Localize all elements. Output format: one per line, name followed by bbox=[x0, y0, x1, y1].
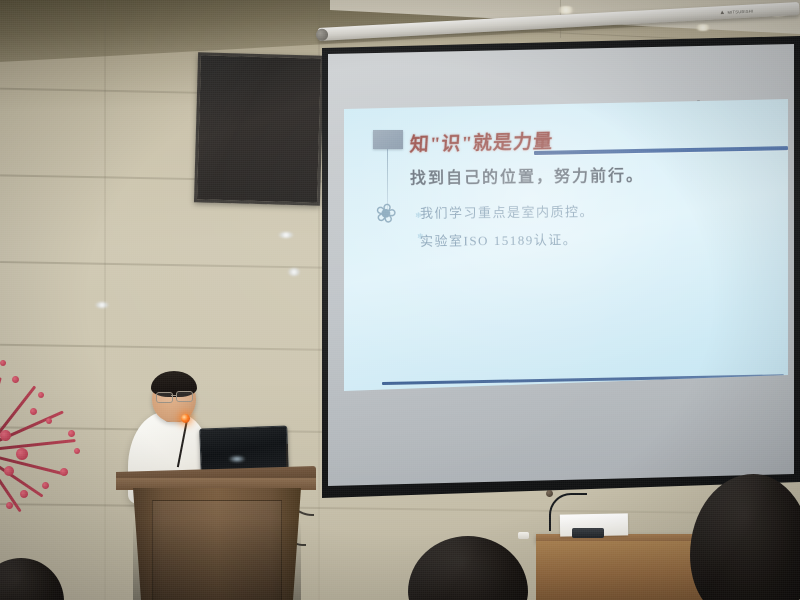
roller-end-cap bbox=[316, 28, 329, 41]
blossom-bud bbox=[0, 430, 11, 441]
microphone-led-icon bbox=[181, 414, 190, 423]
decorative-branches bbox=[0, 330, 106, 570]
presenter-glasses bbox=[176, 391, 193, 402]
podium-shading bbox=[133, 520, 301, 600]
blossom-bud bbox=[12, 376, 19, 383]
wall-reflection bbox=[288, 268, 300, 276]
slide-title-rule bbox=[534, 146, 788, 155]
table-microphone-head-icon bbox=[546, 490, 553, 497]
slide-bullet-1: 我们学习重点是室内质控。 bbox=[420, 201, 594, 222]
blossom-bud bbox=[60, 468, 68, 476]
wall-reflection bbox=[95, 302, 109, 308]
slide-headline: 找到自己的位置，努力前行。 bbox=[410, 162, 644, 189]
laptop[interactable] bbox=[199, 425, 289, 473]
blossom-bud bbox=[30, 408, 37, 415]
blossom-bud bbox=[4, 466, 14, 476]
blossom-bud bbox=[6, 502, 13, 509]
table-microphone-gooseneck bbox=[549, 493, 587, 531]
screen-brand-label: ▲MITSUBISHI bbox=[719, 8, 753, 16]
laptop-screen-reflection bbox=[228, 455, 246, 463]
blossom-bud bbox=[68, 430, 75, 437]
ceiling-light bbox=[556, 6, 576, 14]
presenter-glasses bbox=[156, 392, 173, 403]
branch-twig bbox=[0, 377, 2, 428]
hanging-fish-icon: ❀ bbox=[373, 198, 400, 228]
branch-twig bbox=[0, 439, 76, 451]
slide-bullet-2: 实验室ISO 15189认证。 bbox=[420, 229, 577, 250]
blossom-bud bbox=[74, 448, 80, 454]
blossom-bud bbox=[46, 418, 52, 424]
table-cup bbox=[518, 532, 529, 539]
slide-title-chip bbox=[373, 130, 403, 149]
blossom-bud bbox=[20, 490, 28, 498]
blossom-bud bbox=[16, 448, 28, 460]
blossom-bud bbox=[42, 482, 49, 489]
panel-gloss bbox=[197, 55, 321, 202]
blossom-bud bbox=[0, 360, 6, 366]
presentation-photo: ▲MITSUBISHI 知"识"就是力量 找到自己的位置，努力前行。 ❀ ❄ ❄… bbox=[0, 0, 800, 600]
wall-display-panel bbox=[194, 52, 324, 205]
projected-slide: 知"识"就是力量 找到自己的位置，努力前行。 ❀ ❄ ❄ 我们学习重点是室内质控… bbox=[344, 99, 788, 391]
slide-title: 知"识"就是力量 bbox=[409, 126, 554, 156]
glasses-bridge bbox=[171, 395, 176, 396]
mitsubishi-logo-icon: ▲ bbox=[719, 10, 726, 16]
ceiling-light bbox=[694, 24, 712, 31]
blossom-bud bbox=[38, 392, 44, 398]
wall-reflection bbox=[278, 232, 294, 238]
